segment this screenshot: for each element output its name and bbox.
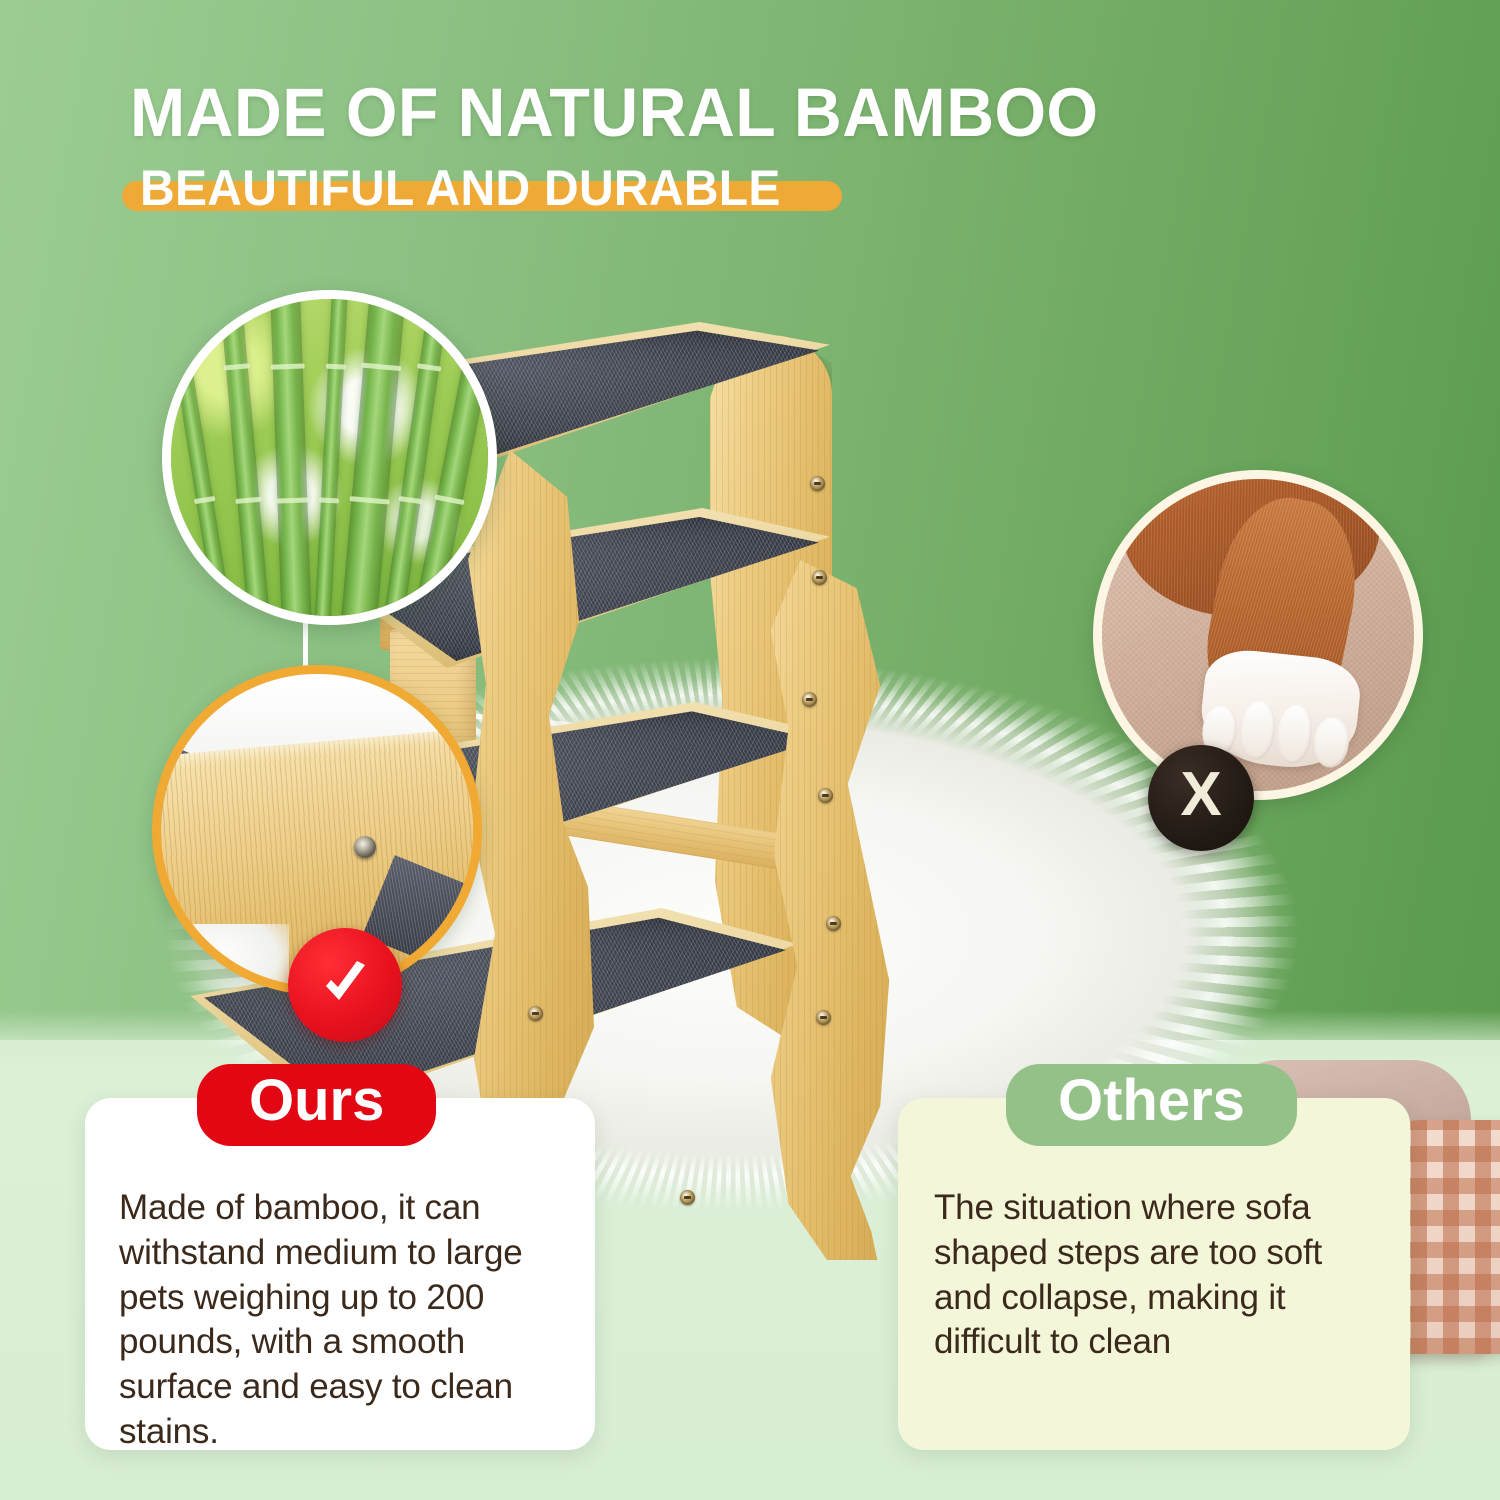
others-card: Others The situation where sofa shaped s… bbox=[898, 1098, 1410, 1450]
others-description: The situation where sofa shaped steps ar… bbox=[934, 1186, 1384, 1365]
check-icon bbox=[314, 954, 376, 1016]
edge-rug-fluff bbox=[152, 924, 289, 995]
ours-description: Made of bamboo, it can withstand medium … bbox=[119, 1186, 569, 1455]
headline-block: MADE OF NATURAL BAMBOO BEAUTIFUL AND DUR… bbox=[130, 78, 1390, 213]
screw bbox=[818, 788, 833, 803]
bamboo-forest-inset bbox=[162, 290, 497, 625]
ours-card: Ours Made of bamboo, it can withstand me… bbox=[85, 1098, 595, 1450]
cross-mark-badge: X bbox=[1148, 745, 1254, 851]
screw bbox=[680, 1190, 695, 1205]
headline-subtitle-wrap: BEAUTIFUL AND DURABLE bbox=[130, 163, 817, 213]
headline-secondary: BEAUTIFUL AND DURABLE bbox=[140, 163, 781, 213]
screw bbox=[810, 476, 825, 491]
others-badge: Others bbox=[1006, 1064, 1297, 1146]
check-mark-badge bbox=[288, 928, 402, 1042]
screw bbox=[826, 916, 841, 931]
screw bbox=[816, 1010, 831, 1025]
ours-badge: Ours bbox=[197, 1064, 436, 1146]
screw bbox=[528, 1006, 543, 1021]
screw bbox=[812, 570, 827, 585]
headline-primary: MADE OF NATURAL BAMBOO bbox=[130, 78, 1340, 147]
screw bbox=[802, 692, 817, 707]
bamboo-forest-photo bbox=[171, 299, 488, 616]
dog-paw-inset bbox=[1093, 470, 1423, 800]
